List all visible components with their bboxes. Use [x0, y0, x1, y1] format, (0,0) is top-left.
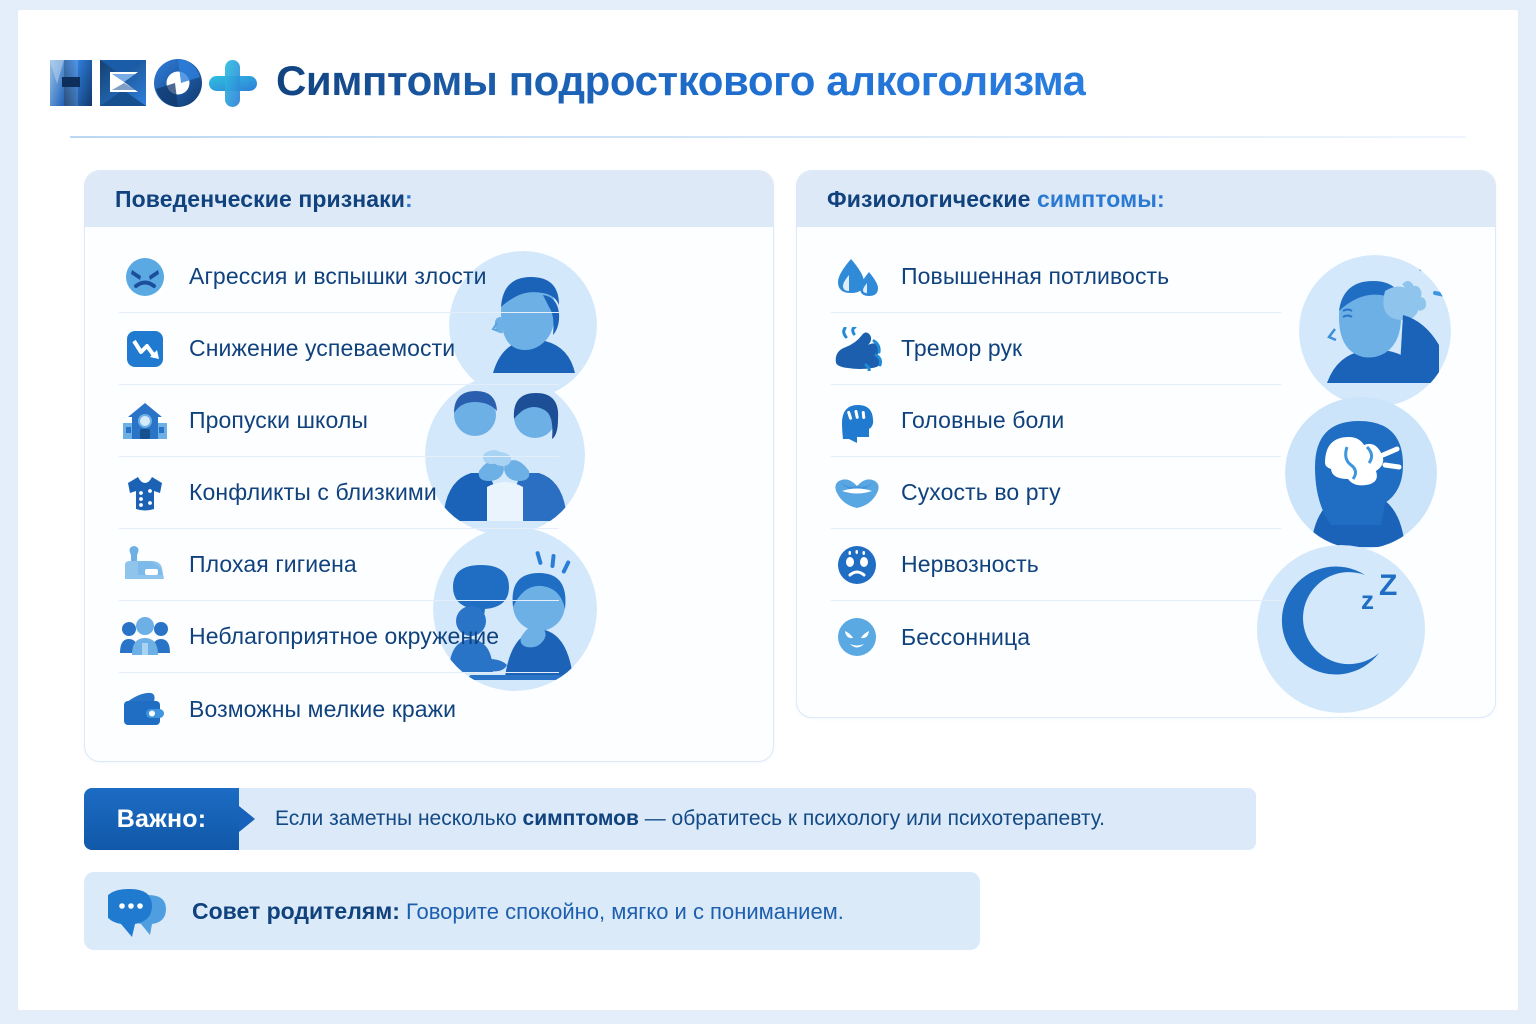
list-item-label: Пропуски школы [189, 407, 368, 434]
soap-icon [119, 539, 171, 591]
important-text-before: Если заметны несколько [275, 807, 523, 830]
advice-text: Совет родителям: Говорите спокойно, мягк… [192, 898, 844, 925]
panel-physiological-header: Физиологические симптомы: [797, 171, 1495, 227]
list-item-label: Головные боли [901, 407, 1064, 434]
panel-behavioral-body: Агрессия и вспышки злости Снижение успев… [85, 227, 773, 761]
behavioral-item-list: Агрессия и вспышки злости Снижение успев… [85, 241, 773, 745]
panel-physiological-title-tail: симптомы: [1030, 186, 1164, 212]
panel-physiological-symptoms: Физиологические симптомы: [796, 170, 1496, 718]
list-item[interactable]: Снижение успеваемости [119, 313, 559, 385]
advice-banner: Совет родителям: Говорите спокойно, мягк… [84, 872, 980, 950]
neo-plus-logo [48, 54, 260, 112]
wallet-icon [119, 683, 171, 735]
speech-bubbles-icon [108, 885, 174, 937]
badge-arrow-icon [239, 806, 255, 832]
list-item[interactable]: Нервозность [831, 529, 1281, 601]
list-item-label: Возможны мелкие кражи [189, 696, 456, 723]
list-item-label: Нервозность [901, 551, 1039, 578]
advice-body: Говорите спокойно, мягко и с пониманием. [400, 899, 844, 924]
water-drops-icon [831, 251, 883, 303]
school-building-icon [119, 395, 171, 447]
list-item[interactable]: Повышенная потливость [831, 241, 1281, 313]
list-item-label: Агрессия и вспышки злости [189, 263, 487, 290]
list-item-label: Конфликты с близкими [189, 479, 437, 506]
panel-behavioral-title: Поведенческие признаки: [115, 186, 413, 213]
panel-behavioral-header: Поведенческие признаки: [85, 171, 773, 227]
tshirt-icon [119, 467, 171, 519]
list-item-label: Тремор рук [901, 335, 1022, 362]
list-item[interactable]: Бессонница [831, 601, 1281, 673]
panel-physiological-title-strong: Физиологические [827, 186, 1030, 212]
angry-face-icon [119, 251, 171, 303]
list-item-label: Повышенная потливость [901, 263, 1169, 290]
list-item[interactable]: Возможны мелкие кражи [119, 673, 559, 745]
important-text-after: — обратитесь к психологу или психотерапе… [639, 807, 1105, 830]
panel-behavioral-title-strong: Поведенческие признаки [115, 186, 405, 212]
list-item[interactable]: Агрессия и вспышки злости [119, 241, 559, 313]
list-item-label: Неблагоприятное окружение [189, 623, 499, 650]
important-badge-label: Важно: [117, 805, 207, 834]
list-item[interactable]: Сухость во рту [831, 457, 1281, 529]
physiological-item-list: Повышенная потливость [797, 241, 1495, 673]
list-item-label: Плохая гигиена [189, 551, 357, 578]
list-item[interactable]: Тремор рук [831, 313, 1281, 385]
panel-physiological-body: z Z Повыше [797, 227, 1495, 717]
important-text-bold: симптомов [523, 807, 639, 830]
page-title: Симптомы подросткового алкоголизма [276, 60, 1086, 106]
important-banner: Важно: Если заметны несколько симптомов … [84, 788, 1256, 850]
panel-behavioral-signs: Поведенческие признаки: [84, 170, 774, 762]
header: Симптомы подросткового алкоголизма [48, 38, 1468, 128]
list-item-label: Снижение успеваемости [189, 335, 455, 362]
list-item[interactable]: Плохая гигиена [119, 529, 559, 601]
list-item[interactable]: Конфликты с близкими [119, 457, 559, 529]
list-item[interactable]: Головные боли [831, 385, 1281, 457]
declining-chart-icon [119, 323, 171, 375]
list-item[interactable]: Пропуски школы [119, 385, 559, 457]
list-item-label: Сухость во рту [901, 479, 1061, 506]
important-badge: Важно: [84, 788, 239, 850]
group-of-people-icon [119, 611, 171, 663]
worried-face-icon [831, 539, 883, 591]
infographic-root: Симптомы подросткового алкоголизма Повед… [0, 0, 1536, 1024]
panel-physiological-title: Физиологические симптомы: [827, 186, 1165, 213]
advice-title: Совет родителям: [192, 898, 400, 924]
page-card: Симптомы подросткового алкоголизма Повед… [18, 10, 1518, 1010]
list-item-label: Бессонница [901, 624, 1030, 651]
head-pain-icon [831, 395, 883, 447]
important-text: Если заметны несколько симптомов — обрат… [239, 807, 1105, 831]
lips-icon [831, 467, 883, 519]
header-divider [70, 136, 1466, 138]
panel-behavioral-title-tail: : [405, 186, 413, 212]
shaking-hand-icon [831, 323, 883, 375]
list-item[interactable]: Неблагоприятное окружение [119, 601, 559, 673]
tired-face-icon [831, 611, 883, 663]
